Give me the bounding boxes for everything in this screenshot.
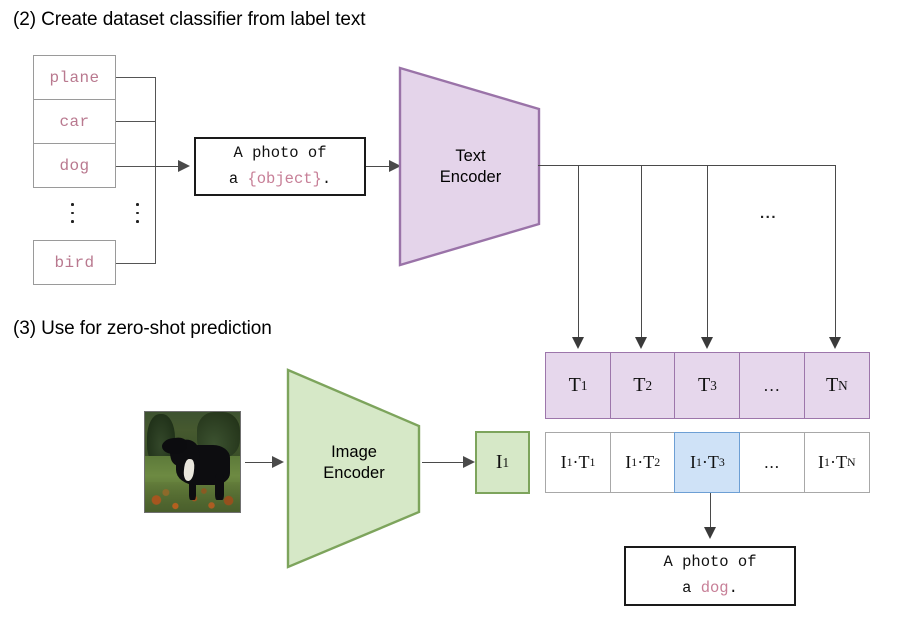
label-text: car <box>59 113 89 131</box>
connector-car <box>116 121 156 122</box>
drop-line-t2 <box>641 165 642 343</box>
label-box-car[interactable]: car <box>33 99 116 144</box>
prompt-line-2: a {object}. <box>229 167 331 193</box>
prediction-class-slot: dog <box>701 579 729 597</box>
prompt-line-1: A photo of <box>233 141 326 167</box>
label-text: dog <box>59 157 89 175</box>
label-box-dog[interactable]: dog <box>33 143 116 188</box>
similarity-cell-n[interactable]: I1·TN <box>804 432 870 493</box>
sim-t-sub: 2 <box>654 455 660 470</box>
section-3-heading: (3) Use for zero-shot prediction <box>13 318 272 340</box>
prediction-output-box[interactable]: A photo of a dog. <box>624 546 796 606</box>
prompt-template-box[interactable]: A photo of a {object}. <box>194 137 366 196</box>
drop-line-t1 <box>578 165 579 343</box>
text-embedding-cell-tn[interactable]: TN <box>804 352 870 419</box>
sim-ellipsis: ... <box>764 453 780 473</box>
sim-t-sub: N <box>847 455 856 470</box>
prediction-line-2: a dog. <box>682 576 738 602</box>
cell-sub: 1 <box>581 378 588 394</box>
label-text: bird <box>54 254 94 272</box>
text-embedding-cell-t3[interactable]: T3 <box>674 352 740 419</box>
image-embedding-i1[interactable]: I1 <box>475 431 530 494</box>
sim-t-sub: 1 <box>590 455 596 470</box>
arrow-head-t3 <box>701 337 713 349</box>
similarity-cell-ellipsis: ... <box>739 432 805 493</box>
drop-line-tn <box>835 165 836 343</box>
input-image-photo[interactable] <box>144 411 241 513</box>
sim-t-sub: 3 <box>719 455 725 470</box>
arrow-head-photo-to-image-encoder <box>272 456 284 468</box>
text-embedding-cell-t2[interactable]: T2 <box>610 352 676 419</box>
similarity-row: I1·T1 I1·T2 I1·T3 ... I1·TN <box>545 432 870 493</box>
arrow-head-t2 <box>635 337 647 349</box>
similarity-cell-1[interactable]: I1·T1 <box>545 432 611 493</box>
section-2-heading: (2) Create dataset classifier from label… <box>13 9 365 31</box>
drop-line-t3 <box>707 165 708 343</box>
sim-t-base: T <box>643 452 654 473</box>
prompt-object-slot: {object} <box>247 170 321 188</box>
prediction-line2-suffix: . <box>729 579 738 597</box>
bus-ellipsis-label: ... <box>760 205 777 222</box>
similarity-cell-2[interactable]: I1·T2 <box>610 432 676 493</box>
text-embedding-cell-t1[interactable]: T1 <box>545 352 611 419</box>
text-embedding-row: T1 T2 T3 … TN <box>545 352 870 419</box>
arrow-head-t1 <box>572 337 584 349</box>
prediction-line2-prefix: a <box>682 579 701 597</box>
cell-sub: 3 <box>710 378 717 394</box>
label-box-bird[interactable]: bird <box>33 240 116 285</box>
sim-t-base: T <box>708 452 719 473</box>
text-embedding-bus <box>538 165 835 166</box>
image-encoder-shape[interactable] <box>286 368 422 570</box>
cell-sub: 1 <box>503 455 510 471</box>
arrow-head-tn <box>829 337 841 349</box>
arrow-head-to-prediction <box>704 527 716 539</box>
sim-t-base: T <box>579 452 590 473</box>
text-embedding-cell-ellipsis: … <box>739 352 805 419</box>
label-text: plane <box>49 69 99 87</box>
connector-vertical-bus <box>155 77 156 264</box>
cell-base: T <box>569 374 581 397</box>
connector-plane <box>116 77 156 78</box>
connector-bird <box>116 263 156 264</box>
label-box-plane[interactable]: plane <box>33 55 116 100</box>
prediction-line-1: A photo of <box>663 550 756 576</box>
cell-base: T <box>698 374 710 397</box>
prompt-line2-suffix: . <box>322 170 331 188</box>
cell-base: I <box>496 451 503 474</box>
arrow-head-to-prompt <box>178 160 190 172</box>
similarity-cell-3-highlighted[interactable]: I1·T3 <box>674 432 740 493</box>
cell-base: … <box>763 376 781 396</box>
figure-canvas: (2) Create dataset classifier from label… <box>0 0 906 624</box>
text-encoder-shape[interactable] <box>398 66 543 268</box>
prompt-line2-prefix: a <box>229 170 248 188</box>
cell-sub: N <box>838 378 848 394</box>
cell-base: T <box>633 374 645 397</box>
cell-sub: 2 <box>646 378 653 394</box>
bus-ellipsis-icon <box>136 203 139 223</box>
arrow-head-image-encoder-to-i1 <box>463 456 475 468</box>
cell-base: T <box>826 374 838 397</box>
sim-t-base: T <box>836 452 847 473</box>
label-list-ellipsis-icon <box>71 203 74 223</box>
